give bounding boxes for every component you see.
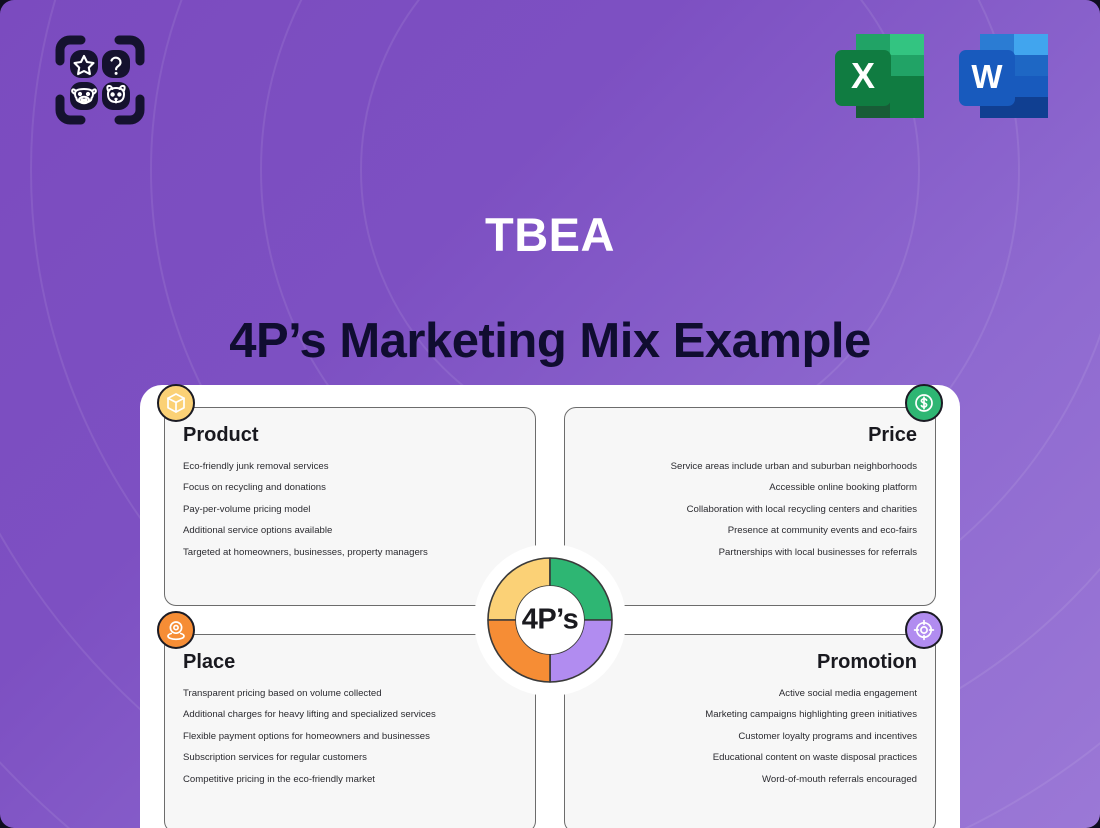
list-item: Educational content on waste disposal pr…: [583, 752, 917, 764]
list-item: Transparent pricing based on volume coll…: [183, 688, 517, 700]
target-crosshair-icon: [905, 611, 943, 649]
list-item: Subscription services for regular custom…: [183, 752, 517, 764]
word-icon[interactable]: W: [956, 30, 1052, 122]
list-item: Accessible online booking platform: [583, 482, 917, 494]
list-item: Word-of-mouth referrals encouraged: [583, 774, 917, 786]
list-item: Customer loyalty programs and incentives: [583, 731, 917, 743]
list-item: Flexible payment options for homeowners …: [183, 731, 517, 743]
list-item: Partnerships with local businesses for r…: [583, 547, 917, 559]
brand-title: TBEA: [0, 207, 1100, 262]
list-item: Active social media engagement: [583, 688, 917, 700]
dollar-coin-icon: [905, 384, 943, 422]
list-item: Additional charges for heavy lifting and…: [183, 709, 517, 721]
excel-icon[interactable]: X: [832, 30, 928, 122]
office-app-icons: X W: [832, 30, 1052, 122]
svg-text:X: X: [851, 55, 875, 96]
quadrant-item-list: Eco-friendly junk removal services Focus…: [183, 461, 517, 559]
package-icon: [157, 384, 195, 422]
list-item: Marketing campaigns highlighting green i…: [583, 709, 917, 721]
quadrant-item-list: Active social media engagement Marketing…: [583, 688, 917, 786]
quadrant-title: Product: [183, 424, 517, 447]
list-item: Eco-friendly junk removal services: [183, 461, 517, 473]
list-item: Focus on recycling and donations: [183, 482, 517, 494]
page-title: 4P’s Marketing Mix Example: [0, 313, 1100, 369]
list-item: Competitive pricing in the eco-friendly …: [183, 774, 517, 786]
location-pin-icon: [157, 611, 195, 649]
list-item: Collaboration with local recycling cente…: [583, 504, 917, 516]
list-item: Targeted at homeowners, businesses, prop…: [183, 547, 517, 559]
quadrant-item-list: Service areas include urban and suburban…: [583, 461, 917, 559]
poster-page: X W TBEA 4P’s Marketing Mix Example: [0, 0, 1100, 828]
quadrant-grid: Product Eco-friendly junk removal servic…: [164, 407, 936, 828]
quadrant-item-list: Transparent pricing based on volume coll…: [183, 688, 517, 786]
quadrant-title: Place: [183, 651, 517, 674]
marketing-mix-card: Product Eco-friendly junk removal servic…: [140, 385, 960, 828]
brand-scanner-logo[interactable]: [48, 28, 152, 132]
list-item: Presence at community events and eco-fai…: [583, 525, 917, 537]
quadrant-title: Price: [583, 424, 917, 447]
list-item: Additional service options available: [183, 525, 517, 537]
list-item: Service areas include urban and suburban…: [583, 461, 917, 473]
quadrant-title: Promotion: [583, 651, 917, 674]
svg-text:W: W: [971, 58, 1003, 95]
list-item: Pay-per-volume pricing model: [183, 504, 517, 516]
four-ps-donut-chart: 4P’s: [474, 544, 626, 696]
